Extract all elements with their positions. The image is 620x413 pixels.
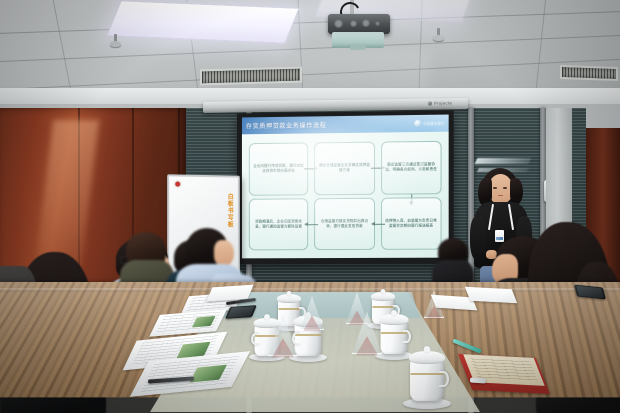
flow-node: 仓储监管方核实货物并出具仓单，银行据此发放贷款 bbox=[314, 197, 374, 250]
slide-header-swoosh bbox=[328, 115, 449, 134]
whiteboard-side-text: 白板书写板 bbox=[225, 193, 234, 228]
air-vent bbox=[560, 65, 618, 81]
red-notebook[interactable] bbox=[458, 354, 550, 394]
ceiling-projector bbox=[328, 14, 390, 54]
flow-node-label: 质押物入库，由监管方负责日常监管并定期向银行报送报表 bbox=[384, 218, 439, 229]
pen-cap[interactable] bbox=[470, 377, 486, 383]
name-card-holder[interactable] bbox=[352, 312, 382, 354]
flow-arrow-left-icon bbox=[305, 224, 318, 225]
screen-brand-icon bbox=[428, 101, 432, 105]
flow-node: 贷款期满后，企业归还贷款本息，银行通知监管方解除监管 bbox=[249, 198, 309, 251]
flowchart: 企业向银行申请贷款，银行对企业存货市场价值评估 确定仓储监管企业并确定质押监管方… bbox=[242, 132, 449, 259]
glass-reflection bbox=[475, 158, 532, 164]
fire-sprinkler-icon bbox=[433, 28, 444, 42]
led-light-panel bbox=[106, 0, 299, 44]
ceiling-tile-seam bbox=[0, 11, 620, 34]
name-card-holder[interactable] bbox=[300, 296, 324, 330]
projection-screen: 存货质押贷款业务操作流程 中国建设银行 企业向银行申请贷款，银行对企业存货市场价… bbox=[237, 110, 454, 264]
flow-node: 银企监管三方通过签订监管协议，明确各方权利、义务和责任 bbox=[381, 141, 442, 194]
attendee-face bbox=[214, 240, 234, 266]
flow-node-label: 银企监管三方通过签订监管协议，明确各方权利、义务和责任 bbox=[384, 162, 439, 173]
table-edge-highlight bbox=[0, 288, 620, 292]
flow-node-label: 企业向银行申请贷款，银行对企业存货市场价值评估 bbox=[252, 164, 306, 175]
flow-node: 确定仓储监管企业并确定质押监管方案 bbox=[314, 142, 374, 195]
ceiling-tile-seam bbox=[53, 0, 73, 96]
fire-sprinkler-icon bbox=[110, 34, 121, 48]
conference-room-photo: Projecta 存货质押贷款业务操作流程 中国建设银行 企业向银行申请贷款，银… bbox=[0, 0, 620, 413]
projector-body bbox=[328, 14, 390, 34]
slide-title: 存货质押贷款业务操作流程 bbox=[246, 120, 327, 130]
ceiling-tile-seam bbox=[0, 59, 620, 90]
flow-node-label: 仓储监管方核实货物并出具仓单，银行据此发放贷款 bbox=[317, 219, 371, 229]
flow-node-label: 贷款期满后，企业归还贷款本息，银行通知监管方解除监管 bbox=[252, 219, 306, 229]
screen-brand-label: Projecta bbox=[428, 100, 452, 105]
name-card-holder[interactable] bbox=[268, 314, 298, 356]
air-vent bbox=[200, 67, 302, 86]
ceiling-tile-seam bbox=[0, 35, 620, 62]
presentation-slide: 存货质押贷款业务操作流程 中国建设银行 企业向银行申请贷款，银行对企业存货市场价… bbox=[242, 115, 449, 259]
flow-node: 企业向银行申请贷款，银行对企业存货市场价值评估 bbox=[249, 142, 309, 195]
handout-document[interactable] bbox=[465, 287, 518, 303]
flow-arrow-left-icon bbox=[372, 224, 385, 225]
projector-lens-icon bbox=[350, 45, 366, 50]
flow-node-label: 确定仓储监管企业并确定质押监管方案 bbox=[317, 163, 371, 174]
screen-brand-text: Projecta bbox=[434, 100, 452, 105]
magnet-dot-icon bbox=[175, 182, 180, 187]
teacup[interactable] bbox=[404, 348, 450, 406]
